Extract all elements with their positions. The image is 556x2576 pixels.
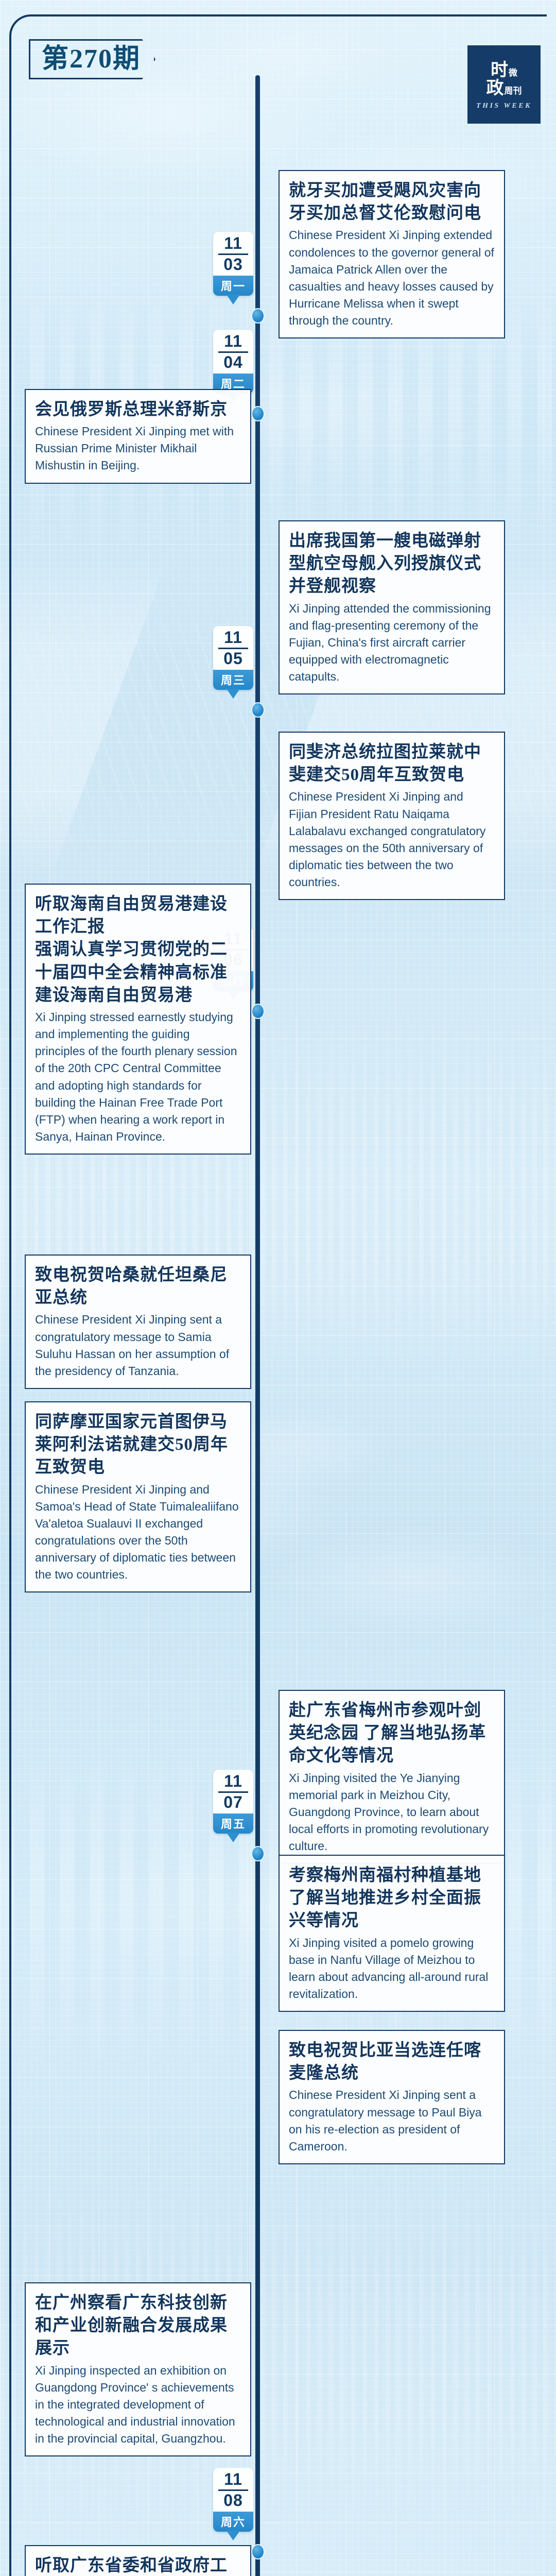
date-badge-day: 03 <box>213 256 253 274</box>
date-badge-pin-icon <box>227 2531 240 2540</box>
brand-logo-char-shi: 时 <box>491 61 509 80</box>
news-card-title-cn: 听取海南自由贸易港建设工作汇报强调认真学习贯彻党的二十届四中全会精神高标准建设海… <box>35 893 241 1007</box>
date-badge-11-08: 1108周六 <box>213 2468 253 2532</box>
news-card-body-en: Xi Jinping visited a pomelo growing base… <box>289 1935 495 2003</box>
date-badge-weekday: 周一 <box>213 276 253 296</box>
news-card-body-en: Xi Jinping attended the commissioning an… <box>289 600 495 686</box>
date-badge-month: 11 <box>213 2471 253 2488</box>
timeline-dot-11-05 <box>251 702 265 718</box>
news-card-title-cn: 就牙买加遭受飓风灾害向牙买加总督艾伦致慰问电 <box>289 179 495 225</box>
news-card-body-en: Chinese President Xi Jinping and Samoa's… <box>35 1481 241 1584</box>
brand-logo-en-label: THIS WEEK <box>476 102 532 110</box>
timeline-dot-11-03 <box>251 308 265 324</box>
timeline-dot-11-08 <box>251 2544 265 2560</box>
news-card-title-cn: 在广州察看广东科技创新和产业创新融合发展成果展示 <box>35 2292 241 2360</box>
issue-number-label: 第270期 <box>42 46 141 73</box>
date-badge-monthday: 1108 <box>213 2468 253 2512</box>
brand-logo-char-zheng: 政 <box>486 79 505 98</box>
date-badge-11-04: 1104周二 <box>213 330 253 394</box>
date-badge-monthday: 1103 <box>213 232 253 276</box>
news-card-body-en: Chinese President Xi Jinping met with Ru… <box>35 423 241 474</box>
news-card[interactable]: 致电祝贺哈桑就任坦桑尼亚总统Chinese President Xi Jinpi… <box>25 1255 251 1389</box>
news-card[interactable]: 致电祝贺比亚当选连任喀麦隆总统Chinese President Xi Jinp… <box>279 2030 505 2164</box>
brand-logo: 时微 政周刊 THIS WEEK <box>467 45 541 124</box>
news-card[interactable]: 就牙买加遭受飓风灾害向牙买加总督艾伦致慰问电Chinese President … <box>279 170 505 338</box>
timeline-dot-11-07 <box>251 1846 265 1861</box>
news-card-body-en: Xi Jinping visited the Ye Jianying memor… <box>289 1770 495 1855</box>
timeline-axis <box>255 75 260 2576</box>
date-badge-monthday: 1104 <box>213 330 253 374</box>
date-badge-11-03: 1103周一 <box>213 232 253 296</box>
date-badge-month: 11 <box>213 1773 253 1790</box>
news-card-body-en: Xi Jinping stressed earnestly studying a… <box>35 1009 241 1145</box>
news-card[interactable]: 在广州察看广东科技创新和产业创新融合发展成果展示Xi Jinping inspe… <box>25 2282 251 2456</box>
news-card-title-cn: 出席我国第一艘电磁弹射型航空母舰入列授旗仪式并登舰视察 <box>289 530 495 598</box>
news-card-title-cn: 致电祝贺比亚当选连任喀麦隆总统 <box>289 2039 495 2084</box>
date-badge-pin-icon <box>227 1833 240 1842</box>
date-badge-pin-icon <box>227 689 240 699</box>
news-card[interactable]: 赴广东省梅州市参观叶剑英纪念园 了解当地弘扬革命文化等情况Xi Jinping … <box>279 1690 505 1864</box>
news-card-title-cn: 致电祝贺哈桑就任坦桑尼亚总统 <box>35 1264 241 1309</box>
date-badge-weekday: 周三 <box>213 670 253 690</box>
brand-logo-cn-line1: 时微 <box>491 62 517 80</box>
date-badge-weekday: 周六 <box>213 2512 253 2532</box>
news-card[interactable]: 听取广东省委和省政府工作汇报强调深入学习贯彻党的二十届四中全会精神 奋力推进中国… <box>25 2545 251 2576</box>
date-badge-11-07: 1107周五 <box>213 1770 253 1834</box>
news-card-body-en: Chinese President Xi Jinping sent a cong… <box>289 2087 495 2155</box>
date-badge-day: 04 <box>213 354 253 371</box>
date-badge-day: 05 <box>213 650 253 668</box>
news-card[interactable]: 考察梅州南福村种植基地了解当地推进乡村全面振兴等情况Xi Jinping vis… <box>279 1855 505 2012</box>
news-card-title-cn: 赴广东省梅州市参观叶剑英纪念园 了解当地弘扬革命文化等情况 <box>289 1699 495 1768</box>
news-card[interactable]: 出席我国第一艘电磁弹射型航空母舰入列授旗仪式并登舰视察Xi Jinping at… <box>279 520 505 694</box>
date-badge-monthday: 1105 <box>213 626 253 670</box>
news-card-body-en: Xi Jinping inspected an exhibition on Gu… <box>35 2362 241 2448</box>
news-card[interactable]: 同斐济总统拉图拉莱就中斐建交50周年互致贺电Chinese President … <box>279 732 505 900</box>
date-badge-11-05: 1105周三 <box>213 626 253 690</box>
brand-logo-char-wei: 微 <box>509 68 517 78</box>
news-card-title-cn: 会见俄罗斯总理米舒斯京 <box>35 398 241 421</box>
date-badge-weekday: 周五 <box>213 1814 253 1834</box>
news-card-body-en: Chinese President Xi Jinping extended co… <box>289 227 495 329</box>
date-badge-day: 08 <box>213 2492 253 2510</box>
date-badge-pin-icon <box>227 295 240 304</box>
brand-logo-cn-line2: 政周刊 <box>486 80 522 98</box>
date-badge-month: 11 <box>213 629 253 647</box>
news-card-title-cn: 同萨摩亚国家元首图伊马莱阿利法诺就建交50周年互致贺电 <box>35 1411 241 1479</box>
timeline-dot-11-04 <box>251 406 265 421</box>
date-badge-day: 07 <box>213 1794 253 1811</box>
date-badge-monthday: 1107 <box>213 1770 253 1814</box>
date-badge-month: 11 <box>213 333 253 350</box>
news-card-body-en: Chinese President Xi Jinping and Fijian … <box>289 788 495 891</box>
issue-number-badge: 第270期 <box>29 39 155 79</box>
news-card[interactable]: 同萨摩亚国家元首图伊马莱阿利法诺就建交50周年互致贺电Chinese Presi… <box>25 1401 251 1592</box>
news-card-title-cn: 同斐济总统拉图拉莱就中斐建交50周年互致贺电 <box>289 741 495 786</box>
news-card[interactable]: 听取海南自由贸易港建设工作汇报强调认真学习贯彻党的二十届四中全会精神高标准建设海… <box>25 884 251 1155</box>
timeline-dot-11-06 <box>251 1004 265 1019</box>
brand-logo-char-zhoukan: 周刊 <box>505 86 522 96</box>
news-card-body-en: Chinese President Xi Jinping sent a cong… <box>35 1311 241 1379</box>
news-card-title-cn: 听取广东省委和省政府工作汇报强调深入学习贯彻党的二十届四中全会精神 奋力推进中国… <box>35 2554 241 2576</box>
news-card[interactable]: 会见俄罗斯总理米舒斯京Chinese President Xi Jinping … <box>25 389 251 484</box>
date-badge-month: 11 <box>213 235 253 252</box>
news-card-title-cn: 考察梅州南福村种植基地了解当地推进乡村全面振兴等情况 <box>289 1864 495 1933</box>
